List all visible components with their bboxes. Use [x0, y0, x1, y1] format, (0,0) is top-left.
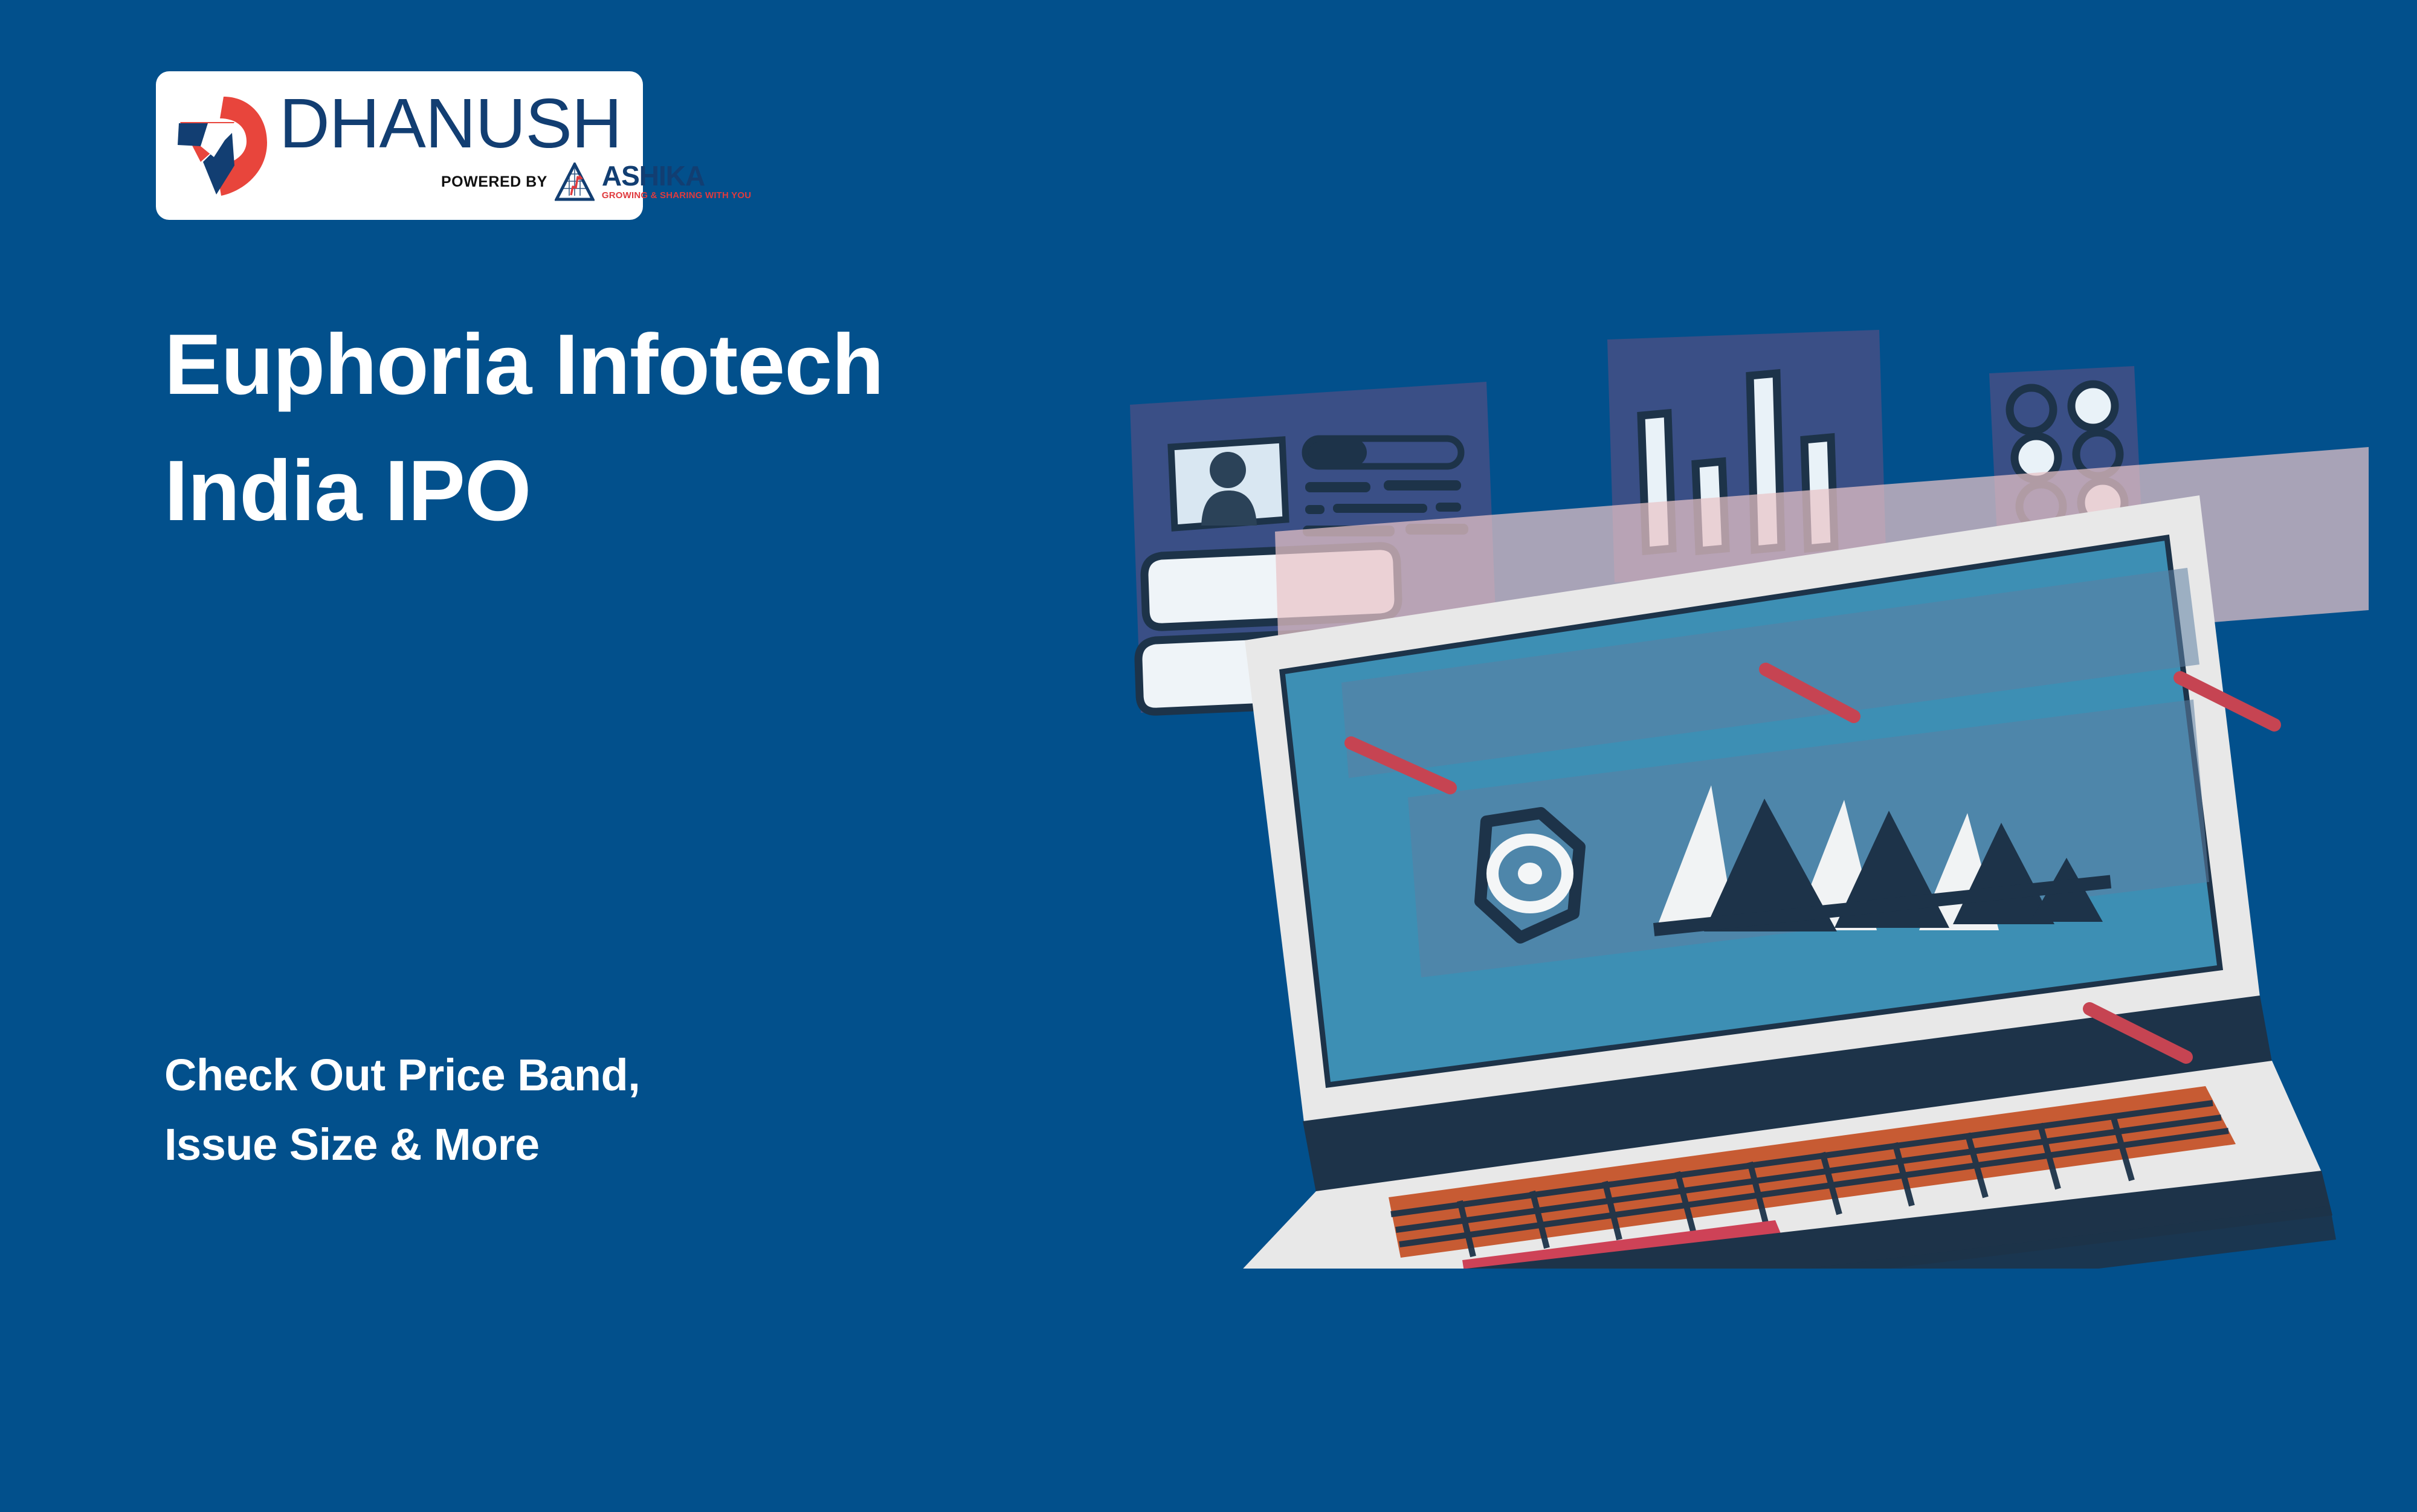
ashika-name: ASHIKA: [602, 163, 751, 190]
ashika-tagline: GROWING & SHARING WITH YOU: [602, 190, 751, 201]
powered-by-row: POWERED BY ASHIKA: [279, 162, 751, 201]
dhanush-arrow-icon: [176, 94, 268, 197]
logo-text-column: DHANUSH POWERED BY: [279, 90, 751, 201]
laptop-dashboard-illustration: [1124, 326, 2369, 1269]
subtitle-line-2: Issue Size & More: [164, 1110, 640, 1179]
subtitle-line-1: Check Out Price Band,: [164, 1040, 640, 1110]
brand-logo-card: DHANUSH POWERED BY: [156, 71, 643, 220]
page-subtitle: Check Out Price Band, Issue Size & More: [164, 1040, 640, 1180]
ashika-text-column: ASHIKA GROWING & SHARING WITH YOU: [602, 163, 751, 201]
ashika-triangle-icon: [555, 162, 595, 201]
user-avatar-icon: [1171, 440, 1286, 528]
powered-by-label: POWERED BY: [441, 173, 547, 191]
brand-wordmark: DHANUSH: [279, 90, 751, 156]
